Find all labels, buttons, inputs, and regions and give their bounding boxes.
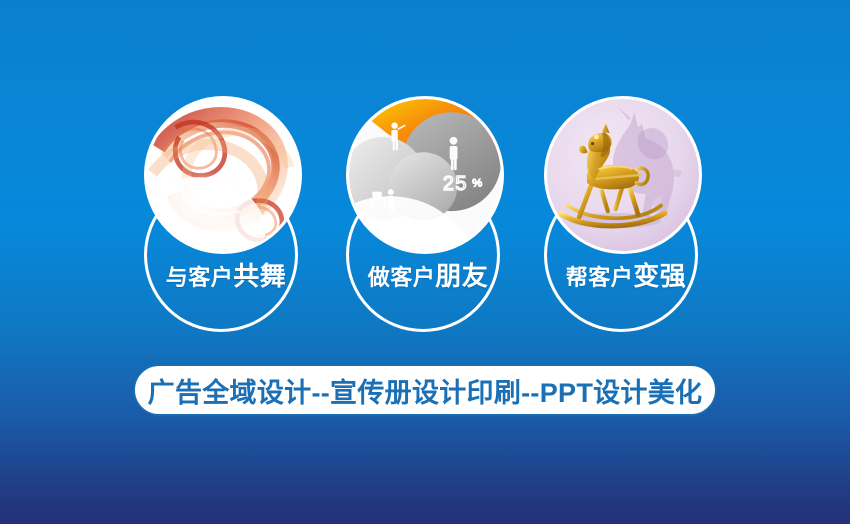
caption-1-emph: 共舞 [233,261,286,291]
caption-2: 做客户朋友 [330,261,526,293]
caption-2-lead: 做客户 [368,265,436,290]
golden-rocking-horse-with-unicorn-shadow-image [544,96,702,254]
feature-circle-make-client-stronger[interactable]: 帮客户变强 [528,96,724,336]
caption-1-lead: 与客户 [166,265,234,290]
services-banner-text: 广告全域设计--宣传册设计印刷--PPT设计美化 [148,371,703,410]
orange-smoke-swirl-artwork-image [144,96,302,254]
caption-3-lead: 帮客户 [566,265,634,290]
services-banner[interactable]: 广告全域设计--宣传册设计印刷--PPT设计美化 [133,364,717,416]
feature-circle-dance-with-client[interactable]: 与客户共舞 [128,96,324,336]
caption-3-emph: 变强 [633,261,686,291]
svg-text:25: 25 [443,173,468,195]
caption-2-emph: 朋友 [435,261,488,291]
caption-3: 帮客户变强 [528,261,724,293]
caption-1: 与客户共舞 [128,261,324,293]
feature-circle-be-client-friend[interactable]: 25 % 做客户朋友 [330,96,526,336]
svg-text:%: % [472,177,482,189]
poster-canvas: 与客户共舞 [0,0,850,524]
feature-circles-row: 与客户共舞 [0,0,850,345]
infographic-circles-people-icons-image: 25 % [346,96,504,254]
